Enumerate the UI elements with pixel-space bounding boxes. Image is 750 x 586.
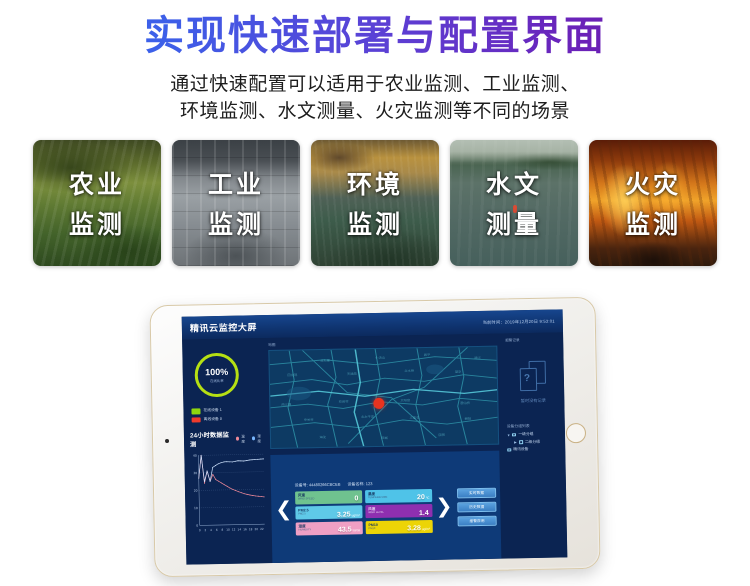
sensor-name: 湿度 HUMIDITY (298, 525, 311, 532)
sensor-tile[interactable]: 湿度 HUMIDITY 43.5%RH (295, 521, 363, 535)
svg-text:顺义: 顺义 (474, 356, 481, 360)
chart-canvas: 0102030400246810121416182022 (189, 451, 267, 534)
svg-text:亚运村: 亚运村 (339, 399, 349, 404)
chevron-down-icon[interactable]: ▼ (507, 433, 510, 437)
chart-header: 24小时数据监测 温度 湿度 (190, 429, 263, 448)
empty-state-text: 暂时没有记录 (521, 398, 546, 404)
svg-text:酒仙桥: 酒仙桥 (460, 400, 471, 405)
map-location-pin[interactable] (374, 397, 385, 408)
device-data-inner: 设备号: 44480266CBCEB 设备名称: 123 (294, 475, 435, 539)
sensor-unit: %RH (353, 528, 361, 532)
scene-card-label: 水文 测量 (450, 140, 578, 266)
svg-text:2: 2 (204, 528, 206, 532)
device-status-legend: 在线设备 1 离线设备 0 (191, 407, 262, 422)
device-name-value: 123 (366, 481, 373, 486)
current-time-label: 当前时间：2019年12月20日 9:53:01 (483, 318, 555, 325)
sensor-name-en: HUMIDITY (299, 529, 312, 532)
tablet-bezel: 精讯云监控大屏 当前时间：2019年12月20日 9:53:01 100% 在线… (149, 297, 600, 578)
scene-label-line-1: 水文 (486, 165, 542, 201)
legend-label: 在线设备 1 (203, 408, 221, 413)
sensor-name-en: TEMPERATURE (368, 496, 387, 499)
scene-label-line-1: 工业 (208, 165, 264, 201)
tree-node-level-3[interactable]: 精讯设备 (507, 446, 561, 452)
svg-text:20: 20 (254, 527, 258, 531)
subtitle-line-2: 环境监测、水文测量、火灾监测等不同的场景 (0, 98, 750, 126)
device-id-label: 设备号: (295, 482, 308, 487)
sensor-name: 温度 TEMPERATURE (368, 493, 388, 500)
dashboard-left-column: 100% 在线比率 在线设备 1 离线设备 0 (182, 338, 270, 565)
map-roads: 北七家小汤山 昌平顺义 回龙观天通苑 立水桥望京 西三旗亚运村 太阳宫酒仙桥 中… (269, 347, 498, 448)
sensor-tile[interactable]: 温度 TEMPERATURE 20℃ (365, 488, 433, 502)
scene-label-line-1: 环境 (347, 165, 403, 201)
sensor-value: 20 (417, 494, 425, 501)
svg-text:国贸: 国贸 (438, 432, 445, 437)
sensor-value: 43.5 (338, 526, 352, 533)
svg-text:西三旗: 西三旗 (281, 402, 291, 407)
sensor-tile[interactable]: 风速 WIND SPEED 0 (295, 490, 363, 504)
sensor-tile[interactable]: 风速 WIND LEVEL 1.4 (365, 504, 433, 518)
svg-text:8: 8 (221, 528, 223, 532)
svg-text:望京: 望京 (455, 369, 462, 374)
svg-text:10: 10 (194, 506, 198, 510)
sensor-name-en: PM10 (368, 527, 377, 530)
chart-legend-humidity[interactable]: 湿度 (252, 433, 263, 443)
device-data-panel: ❮ 设备号: 44480266CBCEB 设备名称: 123 (270, 451, 501, 563)
subtitle-line-1: 通过快速配置可以适用于农业监测、工业监测、 (0, 71, 750, 99)
series-name: 温度 (241, 433, 247, 443)
dashboard-title: 精讯云监控大屏 (190, 320, 257, 334)
sensor-tile[interactable]: PM2.5 PM2.5 3.25ug/m³ (295, 505, 363, 519)
sensor-name-en: WIND LEVEL (368, 512, 384, 515)
chevron-right-icon[interactable]: ▶ (514, 440, 517, 444)
prev-device-button[interactable]: ❮ (273, 499, 294, 519)
device-id-group: 设备号: 44480266CBCEB (295, 481, 341, 488)
svg-text:西城: 西城 (381, 435, 389, 440)
scene-card-label: 火灾 监测 (589, 140, 717, 266)
svg-text:6: 6 (216, 528, 218, 532)
alarm-empty-state: ? 暂时没有记录 (506, 360, 561, 404)
chart-legend-temperature[interactable]: 温度 (236, 433, 247, 443)
device-icon (507, 448, 511, 451)
dashboard-body: 100% 在线比率 在线设备 1 离线设备 0 (182, 332, 567, 564)
tree-node-label: 一级分组 (518, 432, 533, 437)
svg-text:中关村: 中关村 (304, 417, 314, 422)
scene-card-agriculture[interactable]: 农业 监测 (33, 140, 161, 266)
scene-label-line-2: 监测 (69, 205, 125, 241)
sensor-name-en: PM2.5 (298, 513, 308, 516)
legend-label: 离线设备 0 (204, 417, 222, 422)
tree-node-level-1[interactable]: ▼ 一级分组 (507, 431, 561, 437)
scene-label-line-2: 监测 (625, 205, 681, 241)
svg-text:12: 12 (232, 527, 236, 531)
page-title: 实现快速部署与配置界面 (0, 14, 750, 59)
legend-item-online: 在线设备 1 (191, 407, 262, 414)
sensor-name: PM2.5 PM2.5 (298, 510, 309, 517)
scene-card-environment[interactable]: 环境 监测 (311, 140, 439, 266)
scene-label-line-1: 火灾 (625, 165, 681, 201)
folder-icon (519, 440, 523, 443)
scene-label-line-1: 农业 (69, 165, 125, 201)
svg-text:22: 22 (260, 527, 264, 531)
alarm-app-button[interactable]: 报警应用 (458, 516, 497, 527)
svg-text:30: 30 (193, 471, 197, 475)
svg-text:太阳宫: 太阳宫 (400, 397, 410, 402)
online-rate-gauge: 100% 在线比率 (194, 353, 239, 398)
device-map[interactable]: 北七家小汤山 昌平顺义 回龙观天通苑 立水桥望京 西三旗亚运村 太阳宫酒仙桥 中… (268, 346, 499, 449)
sensor-name-en: WIND SPEED (298, 498, 314, 501)
offline-color-swatch (192, 417, 201, 423)
svg-text:14: 14 (237, 527, 241, 531)
sensor-name: PM10 PM10 (368, 524, 378, 531)
tree-node-level-2[interactable]: ▶ 二级分组 (507, 439, 561, 445)
gauge-caption: 在线比率 (210, 378, 224, 383)
device-name-group: 设备名称: 123 (347, 481, 372, 487)
realtime-data-button[interactable]: 实时数据 (457, 488, 496, 499)
scene-card-label: 农业 监测 (33, 140, 161, 266)
svg-text:40: 40 (193, 454, 197, 458)
tablet-device: 精讯云监控大屏 当前时间：2019年12月20日 9:53:01 100% 在线… (149, 297, 600, 578)
page-subtitle: 通过快速配置可以适用于农业监测、工业监测、 环境监测、水文测量、火灾监测等不同的… (0, 71, 750, 126)
scene-card-hydrology[interactable]: 水文 测量 (450, 140, 578, 266)
sensor-reading: 3.28ug/m³ (407, 517, 430, 535)
svg-text:北太平庄: 北太平庄 (361, 414, 374, 419)
folder-icon (512, 433, 516, 436)
svg-text:16: 16 (243, 527, 247, 531)
scene-card-industry[interactable]: 工业 监测 (172, 140, 300, 266)
front-camera-icon (165, 439, 169, 443)
legend-item-offline: 离线设备 0 (192, 416, 263, 423)
sensor-tile-grid: 风速 WIND SPEED 0 温度 (295, 488, 433, 535)
alarm-section-label: 报警记录 (505, 337, 559, 343)
tree-node-label: 精讯设备 (513, 447, 528, 452)
svg-text:天通苑: 天通苑 (347, 371, 357, 376)
next-device-button[interactable]: ❯ (433, 495, 454, 515)
svg-text:昌平: 昌平 (424, 353, 431, 357)
series-dot-icon (236, 437, 239, 441)
question-mark-glyph: ? (524, 373, 530, 384)
svg-text:立水桥: 立水桥 (404, 368, 415, 373)
sensor-value: 1.4 (419, 509, 429, 516)
sensor-value: 3.28 (407, 525, 421, 532)
series-dot-icon (252, 436, 255, 440)
svg-text:4: 4 (210, 528, 212, 532)
sensor-name: 风速 WIND SPEED (298, 494, 315, 501)
sensor-reading: 43.5%RH (338, 518, 360, 536)
device-meta: 设备号: 44480266CBCEB 设备名称: 123 (295, 479, 433, 488)
svg-text:18: 18 (249, 527, 253, 531)
dashboard-right-column: 报警记录 ? 暂时没有记录 设备分组列表 ▼ (501, 332, 567, 558)
document-question-icon: ? (520, 361, 547, 391)
scene-label-line-2: 监测 (208, 205, 264, 241)
history-data-button[interactable]: 历史数据 (457, 502, 496, 513)
chart-legend: 温度 湿度 (236, 433, 263, 444)
svg-text:0: 0 (199, 528, 201, 532)
sensor-unit: ug/m³ (352, 513, 360, 517)
scene-card-label: 环境 监测 (311, 140, 439, 266)
home-button[interactable] (566, 423, 586, 443)
svg-text:小汤山: 小汤山 (375, 355, 385, 360)
sensor-unit: ug/m³ (422, 527, 430, 531)
svg-text:10: 10 (226, 528, 230, 532)
scene-card-fire[interactable]: 火灾 监测 (589, 140, 717, 266)
device-name-label: 设备名称: (347, 481, 364, 486)
sensor-unit: ℃ (426, 496, 430, 500)
tree-node-label: 二级分组 (525, 439, 540, 444)
scene-card-list: 农业 监测 工业 监测 环境 监测 水文 测量 火灾 监测 (0, 140, 750, 266)
sensor-value: 3.25 (337, 511, 351, 518)
svg-text:朝阳: 朝阳 (465, 416, 472, 421)
series-name: 湿度 (257, 433, 263, 443)
scene-card-label: 工业 监测 (172, 140, 300, 266)
line-chart: 0102030400246810121416182022 (189, 451, 265, 534)
svg-text:海淀: 海淀 (319, 434, 327, 439)
dashboard-center-column: 地图 (266, 334, 505, 563)
svg-text:20: 20 (194, 489, 198, 493)
device-group-tree: ▼ 一级分组 ▶ 二级分组 精讯设备 (507, 431, 561, 452)
svg-text:三里屯: 三里屯 (409, 415, 419, 420)
scene-label-line-2: 测量 (486, 205, 542, 241)
device-id-value: 44480266CBCEB (309, 481, 341, 487)
sensor-value: 0 (354, 495, 358, 502)
sensor-tile[interactable]: PM10 PM10 3.28ug/m³ (365, 519, 433, 533)
scene-label-line-2: 监测 (347, 205, 403, 241)
sensor-name: 风速 WIND LEVEL (368, 508, 384, 515)
svg-text:回龙观: 回龙观 (287, 372, 297, 377)
dashboard-screen: 精讯云监控大屏 当前时间：2019年12月20日 9:53:01 100% 在线… (182, 309, 568, 564)
svg-text:北七家: 北七家 (320, 358, 330, 363)
gauge-percent: 100% (205, 367, 228, 377)
online-color-swatch (191, 408, 200, 414)
svg-text:0: 0 (196, 524, 198, 528)
chart-title: 24小时数据监测 (190, 430, 230, 449)
device-group-title: 设备分组列表 (507, 423, 561, 429)
panel-action-buttons: 实时数据 历史数据 报警应用 (454, 484, 499, 527)
